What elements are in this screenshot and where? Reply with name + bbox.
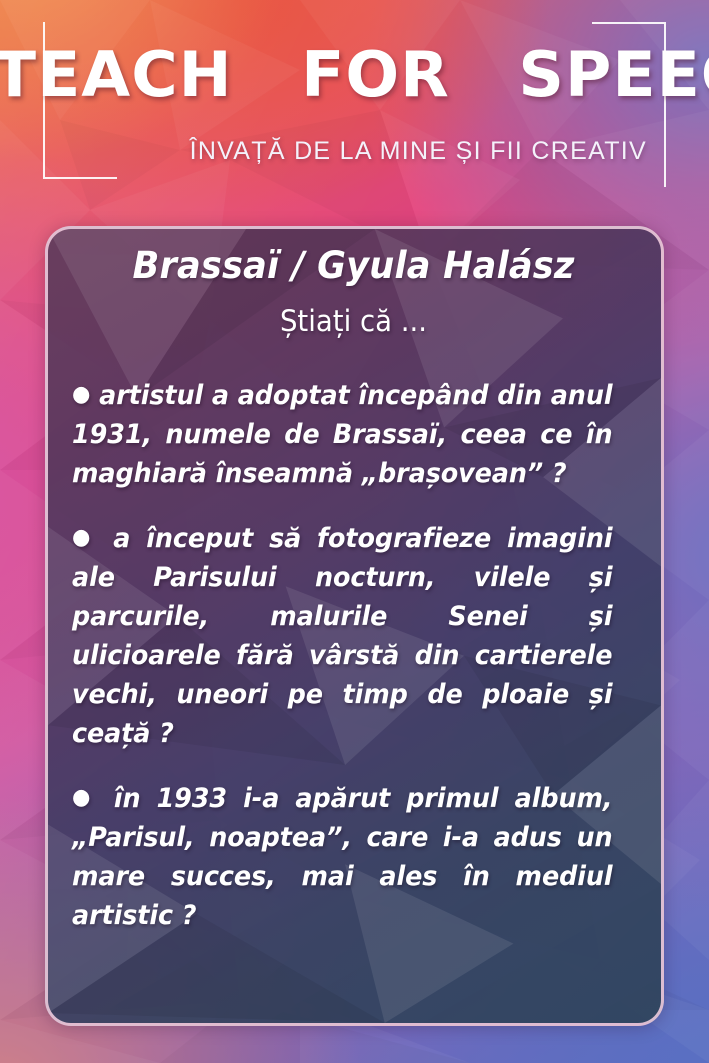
fact-item: ● a început să fotografieze imagini ale … [72, 520, 612, 754]
brand-tagline: ÎNVAȚĂ DE LA MINE ȘI FII CREATIV [0, 139, 709, 164]
poster: TEACH FOR SPEECH ÎNVAȚĂ DE LA MINE ȘI FI… [0, 0, 709, 1063]
fact-item: ● artistul a adoptat începând din anul 1… [72, 377, 612, 494]
logo-word-1: TEACH [0, 44, 233, 106]
poster-header: TEACH FOR SPEECH ÎNVAȚĂ DE LA MINE ȘI FI… [0, 0, 709, 196]
fact-text: în 1933 i-a apărut primul album, „Parisu… [72, 783, 612, 931]
fact-text: artistul a adoptat începând din anul 193… [72, 380, 612, 489]
logo-word-3: SPEECH [518, 44, 709, 106]
bullet-icon: ● [72, 785, 98, 810]
bullet-icon: ● [72, 525, 97, 550]
card-subtitle: Știați că ... [86, 304, 621, 339]
card-title: Brassaï / Gyula Halász [86, 245, 621, 288]
fact-text: a început să fotografieze imagini ale Pa… [72, 523, 612, 749]
content-card: Brassaï / Gyula Halász Știați că ... ● a… [45, 226, 664, 1026]
brand-logo: TEACH FOR SPEECH [0, 44, 709, 106]
logo-word-2: FOR [301, 44, 450, 106]
bullet-icon: ● [72, 382, 90, 407]
facts-list: ● artistul a adoptat începând din anul 1… [72, 377, 635, 936]
card-content: Brassaï / Gyula Halász Știați că ... ● a… [48, 229, 661, 936]
fact-item: ● în 1933 i-a apărut primul album, „Pari… [72, 780, 612, 936]
